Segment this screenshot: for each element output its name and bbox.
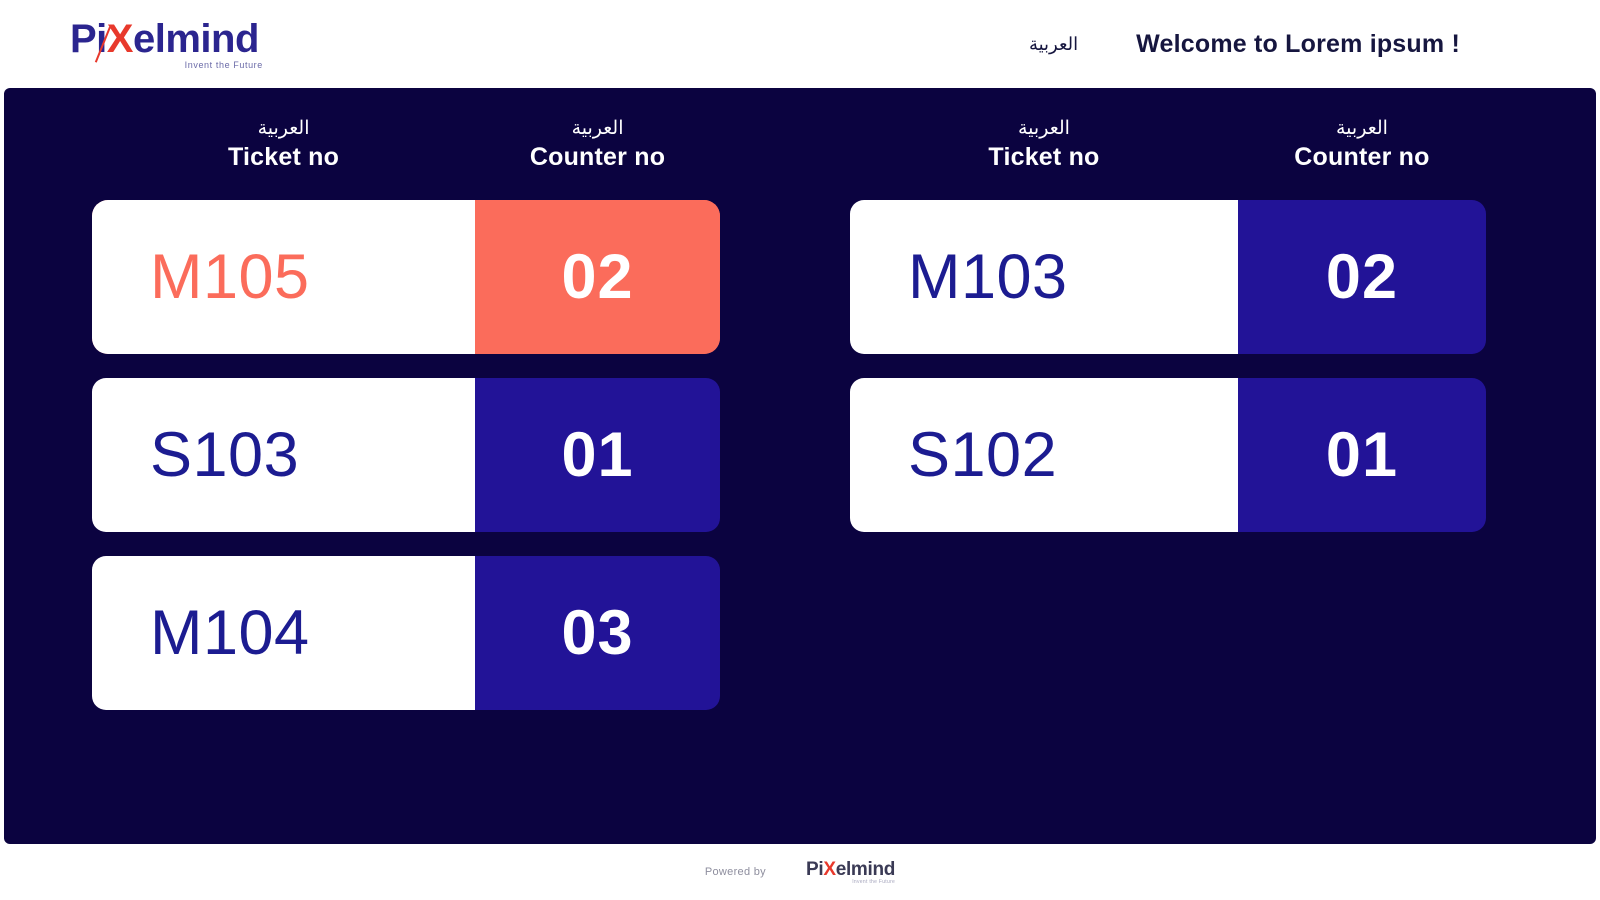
panel-left-counter-header: العربية Counter no <box>475 116 720 174</box>
counter-number-cell: 02 <box>475 200 720 354</box>
ticket-number-cell: S102 <box>850 378 1238 532</box>
panel-left-ticket-header: العربية Ticket no <box>92 116 475 174</box>
ticket-number-cell: S103 <box>92 378 475 532</box>
counter-number-cell: 01 <box>475 378 720 532</box>
counter-header-arabic: العربية <box>572 116 624 141</box>
ticket-row[interactable]: S102 01 <box>850 378 1486 532</box>
app-footer: Powered by PiXelmind Invent the Future <box>0 844 1600 900</box>
logo-wordmark: PiXelmind <box>70 19 259 59</box>
powered-by-label: Powered by <box>705 866 766 878</box>
language-switch-button[interactable]: العربية <box>1029 34 1078 55</box>
footer-logo-text-part1: Pi <box>806 859 823 880</box>
footer-logo-wordmark: PiXelmind <box>806 860 895 879</box>
counter-number-cell: 02 <box>1238 200 1486 354</box>
queue-panel-right: العربية Ticket no العربية Counter no M10… <box>800 116 1596 844</box>
logo-tagline: Invent the Future <box>185 61 263 70</box>
counter-header-english: Counter no <box>1294 141 1429 174</box>
logo-text-part1: Pi <box>70 17 107 61</box>
ticket-number-cell: M103 <box>850 200 1238 354</box>
counter-number-cell: 03 <box>475 556 720 710</box>
ticket-number-cell: M105 <box>92 200 475 354</box>
queue-board: العربية Ticket no العربية Counter no M10… <box>4 88 1596 844</box>
panel-left-rows: M105 02 S103 01 M104 03 <box>92 200 720 710</box>
ticket-row[interactable]: M105 02 <box>92 200 720 354</box>
ticket-row[interactable]: M104 03 <box>92 556 720 710</box>
ticket-row[interactable]: M103 02 <box>850 200 1486 354</box>
counter-header-arabic: العربية <box>1336 116 1388 141</box>
ticket-header-arabic: العربية <box>1018 116 1070 141</box>
header-actions: العربية Welcome to Lorem ipsum ! <box>1029 30 1570 59</box>
panel-right-ticket-header: العربية Ticket no <box>850 116 1238 174</box>
pixelmind-logo: PiXelmind Invent the Future <box>70 19 259 70</box>
logo-x-icon: X <box>107 17 133 61</box>
queue-display-app: PiXelmind Invent the Future العربية Welc… <box>0 0 1600 900</box>
counter-number-cell: 01 <box>1238 378 1486 532</box>
panel-left-header-row: العربية Ticket no العربية Counter no <box>92 116 720 174</box>
welcome-message: Welcome to Lorem ipsum ! <box>1136 30 1460 59</box>
panel-right-rows: M103 02 S102 01 <box>850 200 1486 532</box>
footer-logo-tagline: Invent the Future <box>852 880 895 885</box>
footer-logo-text-part2: elmind <box>836 859 895 880</box>
ticket-header-arabic: العربية <box>258 116 310 141</box>
footer-logo-x-icon: X <box>823 859 835 880</box>
ticket-header-english: Ticket no <box>988 141 1099 174</box>
footer-pixelmind-logo: PiXelmind Invent the Future <box>806 860 895 885</box>
logo-text-part2: elmind <box>133 17 259 61</box>
counter-header-english: Counter no <box>530 141 665 174</box>
ticket-header-english: Ticket no <box>228 141 339 174</box>
panel-right-header-row: العربية Ticket no العربية Counter no <box>850 116 1486 174</box>
queue-panel-left: العربية Ticket no العربية Counter no M10… <box>4 116 800 844</box>
ticket-row[interactable]: S103 01 <box>92 378 720 532</box>
app-header: PiXelmind Invent the Future العربية Welc… <box>0 0 1600 88</box>
ticket-number-cell: M104 <box>92 556 475 710</box>
panel-right-counter-header: العربية Counter no <box>1238 116 1486 174</box>
